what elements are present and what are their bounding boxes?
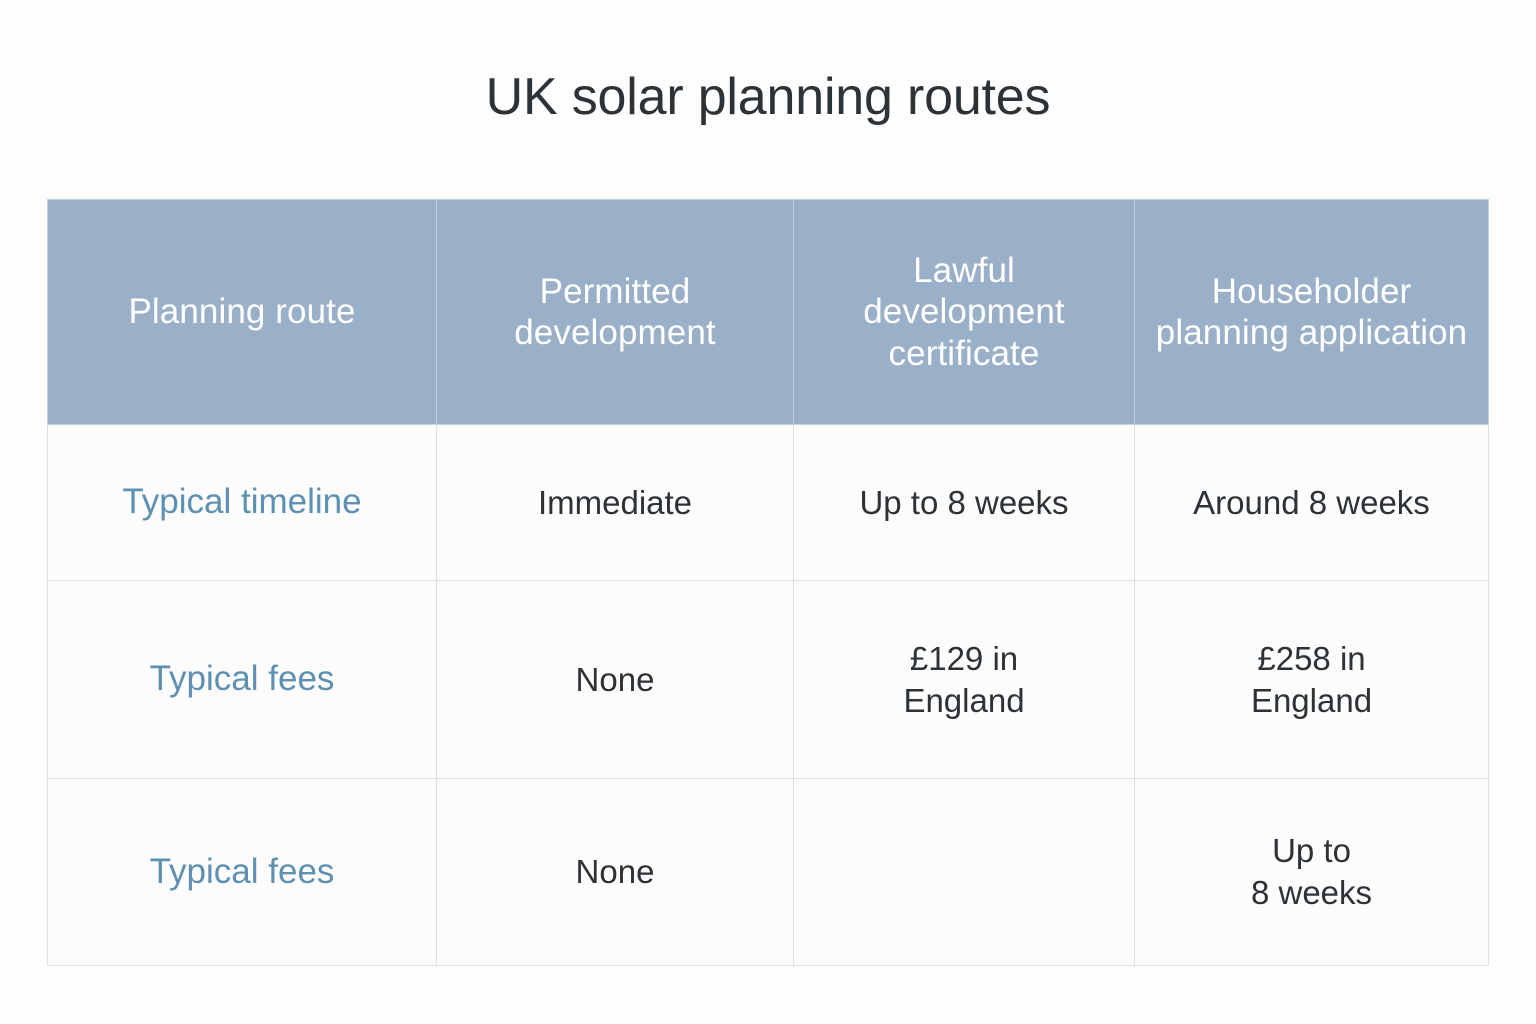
row-label-typical-fees-2: Typical fees [48,779,437,966]
cell-fees2-permitted-development-line1: None [451,851,779,893]
column-header-lawful-development-certificate-line1: Lawful [913,251,1015,290]
cell-fees-householder-planning-application-line2: England [1149,680,1474,722]
cell-timeline-permitted-development: Immediate [437,425,794,581]
cell-fees-lawful-development-certificate-line1: £129 in [808,638,1120,680]
cell-fees2-householder-planning-application: Up to 8 weeks [1135,779,1489,966]
cell-fees-permitted-development: None [437,581,794,779]
table-header: Planning route Permitted development Law… [48,200,1489,425]
row-label-typical-fees-1: Typical fees [48,581,437,779]
page-title: UK solar planning routes [0,68,1536,128]
table-row: Typical fees None Up to 8 weeks [48,779,1489,966]
row-label-typical-timeline: Typical timeline [48,425,437,581]
column-header-lawful-development-certificate: Lawful development certificate [794,200,1135,425]
table-row: Typical fees None £129 in England £258 i… [48,581,1489,779]
column-header-permitted-development-line1: Permitted [540,272,691,311]
planning-routes-table: Planning route Permitted development Law… [47,199,1489,966]
cell-fees2-permitted-development: None [437,779,794,966]
cell-timeline-lawful-development-certificate: Up to 8 weeks [794,425,1135,581]
cell-fees-lawful-development-certificate: £129 in England [794,581,1135,779]
cell-timeline-householder-planning-application: Around 8 weeks [1135,425,1489,581]
table-canvas: UK solar planning routes Planning route … [0,0,1536,1024]
column-header-planning-route: Planning route [48,200,437,425]
column-header-planning-route-line1: Planning route [128,292,355,331]
column-header-lawful-development-certificate-line2: development [863,292,1065,331]
column-header-householder-planning-application-line3: application [1299,313,1467,352]
table-header-row: Planning route Permitted development Law… [48,200,1489,425]
cell-fees-householder-planning-application-line1: £258 in [1149,638,1474,680]
cell-timeline-permitted-development-line1: Immediate [451,482,779,524]
cell-fees2-householder-planning-application-line1: Up to [1149,830,1474,872]
cell-fees2-householder-planning-application-line2: 8 weeks [1149,872,1474,914]
cell-timeline-householder-planning-application-line1: Around 8 weeks [1149,482,1474,524]
table-row: Typical timeline Immediate Up to 8 weeks… [48,425,1489,581]
cell-fees-lawful-development-certificate-line2: England [808,680,1120,722]
column-header-householder-planning-application-line1: Householder [1212,272,1412,311]
cell-timeline-lawful-development-certificate-line1: Up to 8 weeks [808,482,1120,524]
column-header-householder-planning-application: Householder planning application [1135,200,1489,425]
cell-fees-householder-planning-application: £258 in England [1135,581,1489,779]
column-header-householder-planning-application-line2: planning [1156,313,1289,352]
cell-fees2-lawful-development-certificate-empty [794,779,1135,966]
cell-fees-permitted-development-line1: None [451,659,779,701]
column-header-lawful-development-certificate-line3: certificate [889,334,1040,373]
table-body: Typical timeline Immediate Up to 8 weeks… [48,425,1489,966]
column-header-permitted-development: Permitted development [437,200,794,425]
column-header-permitted-development-line2: development [514,313,716,352]
